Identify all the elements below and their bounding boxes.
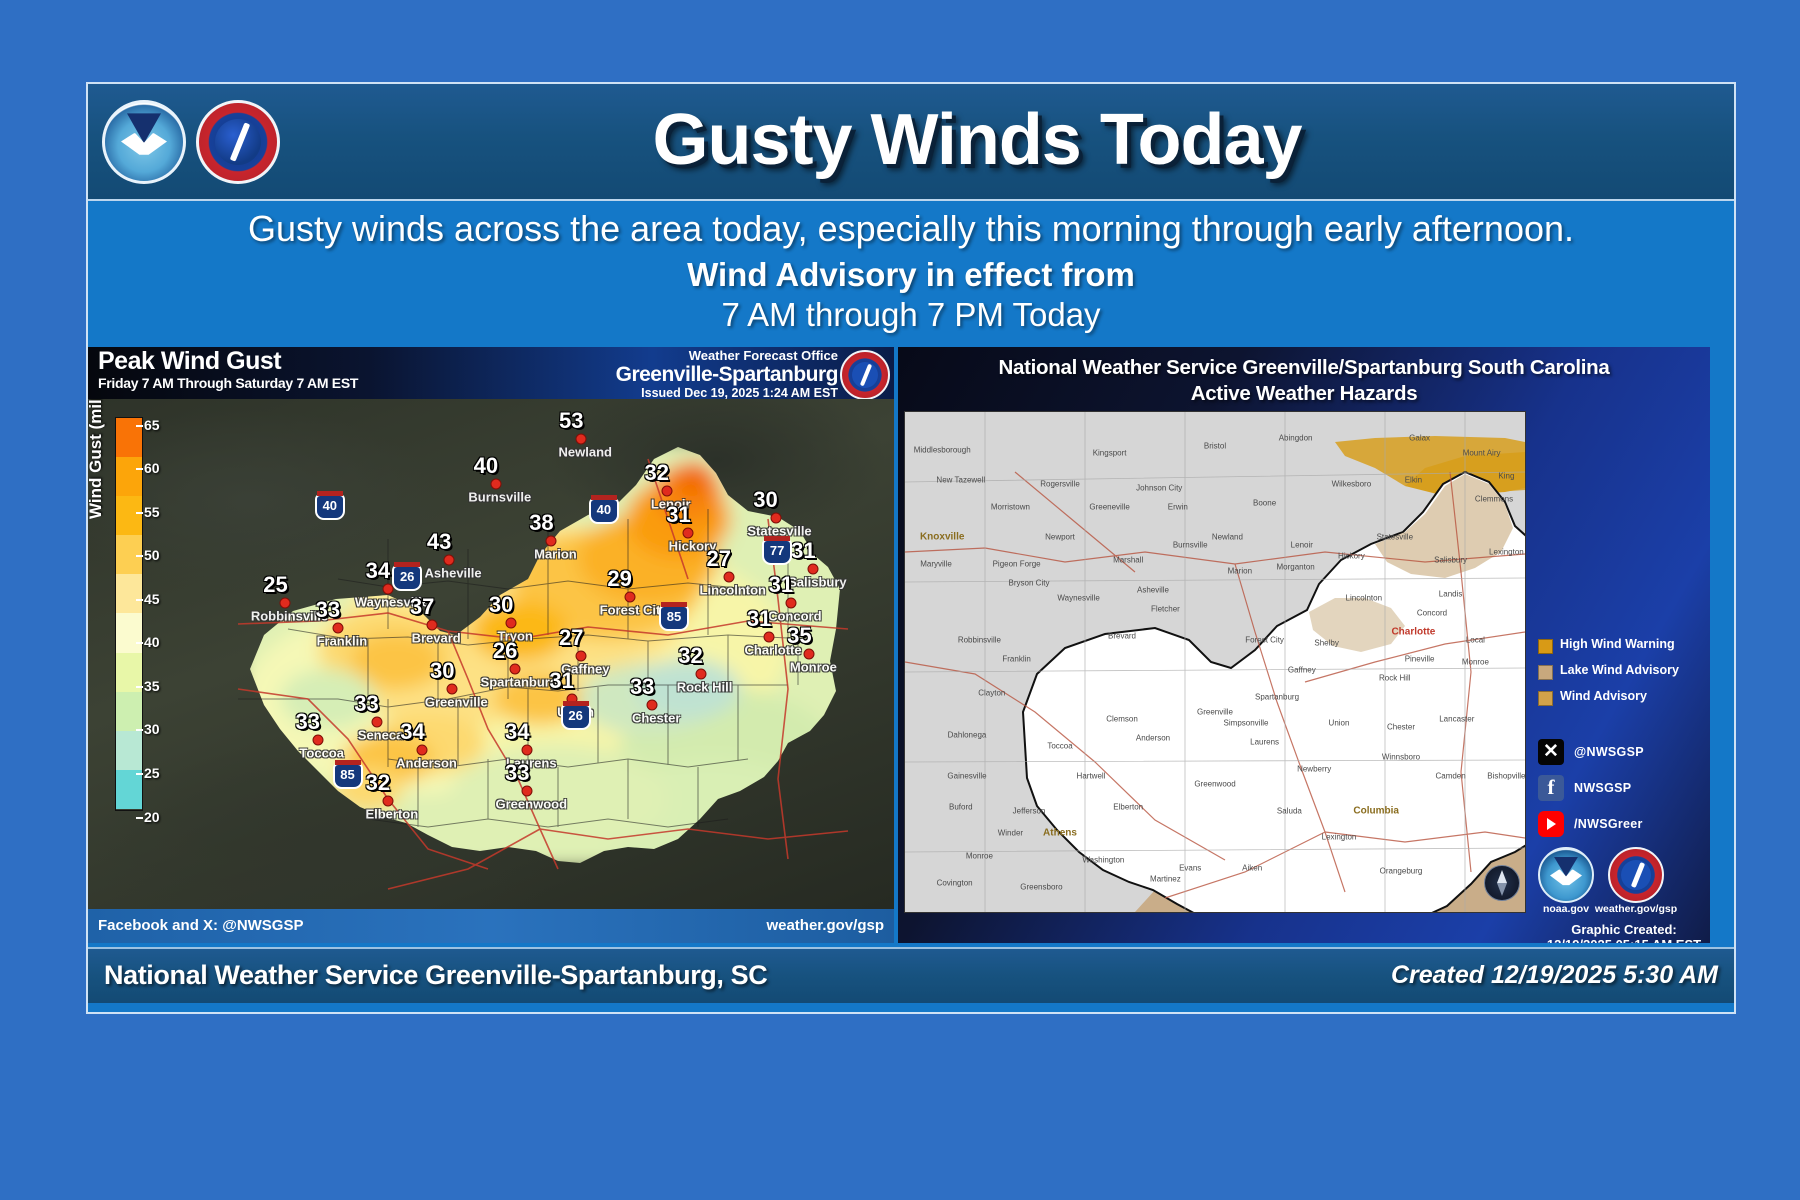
seal-caption: noaa.gov [1543, 903, 1589, 915]
city-label: Greenville [425, 695, 488, 710]
city-label: Burnsville [468, 490, 531, 505]
city-label: Seneca [358, 728, 404, 743]
interstate-shield-icon: 85 [659, 605, 689, 631]
active-hazards-panel: National Weather Service Greenville/Spar… [898, 347, 1710, 943]
station-dot [280, 597, 291, 608]
gust-value: 53 [559, 408, 583, 434]
colorbar-segment [116, 496, 142, 535]
colorbar-tick-label: 65 [144, 417, 160, 433]
page-title: Gusty Winds Today [280, 99, 1734, 181]
legend-swatch [1538, 665, 1553, 680]
station-dot [683, 528, 694, 539]
station-dot [808, 564, 819, 575]
station-dot [804, 648, 815, 659]
colorbar-segment [116, 613, 142, 652]
social-footer-text: Facebook and X: @NWSGSP [98, 917, 304, 934]
left-panel-header: Peak Wind Gust Friday 7 AM Through Satur… [88, 347, 894, 399]
colorbar-label: Wind Gust (mile_per_hour) [88, 399, 106, 519]
compass-rose-icon [1484, 865, 1520, 901]
station-dot [723, 572, 734, 583]
city-label: Elberton [365, 807, 418, 822]
colorbar-segment [116, 692, 142, 731]
left-panel-title: Peak Wind Gust [98, 348, 358, 374]
colorbar-segment [116, 770, 142, 809]
noaa-logo-icon [102, 100, 186, 184]
city-label: Concord [768, 608, 821, 623]
station-dot [506, 617, 517, 628]
left-panel-subtitle: Friday 7 AM Through Saturday 7 AM EST [98, 375, 358, 391]
gust-value: 31 [791, 538, 815, 564]
created-footer-stamp: Created 12/19/2025 5:30 AM [1391, 961, 1718, 990]
city-label: Rock Hill [677, 679, 733, 694]
office-label: Weather Forecast Office [616, 349, 838, 363]
colorbar-tick-label: 20 [144, 809, 160, 825]
gust-value: 31 [666, 502, 690, 528]
city-label: Toccoa [299, 746, 344, 761]
x-icon[interactable]: ✕ [1538, 739, 1564, 765]
station-dot [522, 786, 533, 797]
colorbar-tick-label: 35 [144, 678, 160, 694]
peak-wind-gust-panel: Peak Wind Gust Friday 7 AM Through Satur… [88, 347, 898, 943]
facebook-icon[interactable]: f [1538, 775, 1564, 801]
agency-seals: noaa.govweather.gov/gsp [1538, 847, 1708, 903]
station-dot [510, 663, 521, 674]
hazards-map[interactable]: MiddlesboroughAbingdonGalaxMount AiryKin… [904, 411, 1526, 913]
gust-value: 33 [630, 674, 654, 700]
gust-value: 30 [489, 592, 513, 618]
hazards-title-line-2: Active Weather Hazards [898, 381, 1710, 407]
gust-value: 30 [753, 487, 777, 513]
office-name: Greenville-Spartanburg [616, 363, 838, 386]
headline-line-2: Wind Advisory in effect from [98, 255, 1724, 295]
gust-value: 43 [427, 529, 451, 555]
city-label: Greenwood [496, 797, 568, 812]
panels-row: Peak Wind Gust Friday 7 AM Through Satur… [88, 347, 1734, 947]
gust-value: 32 [366, 770, 390, 796]
gust-value: 33 [295, 709, 319, 735]
station-dot [312, 735, 323, 746]
station-dot [624, 592, 635, 603]
nws-seal-icon [840, 350, 890, 400]
gust-value: 40 [474, 453, 498, 479]
social-handle: NWSGSP [1574, 781, 1631, 795]
social-row[interactable]: ✕@NWSGSP [1538, 737, 1708, 767]
left-panel-footer: Facebook and X: @NWSGSP weather.gov/gsp [88, 909, 894, 943]
station-dot [332, 623, 343, 634]
seal-caption: weather.gov/gsp [1595, 903, 1677, 915]
station-dot [522, 745, 533, 756]
station-dot [546, 536, 557, 547]
weather-graphic: Gusty Winds Today Gusty winds across the… [86, 82, 1736, 1014]
bottom-banner: National Weather Service Greenville-Spar… [88, 947, 1734, 1003]
social-row[interactable]: /NWSGreer [1538, 809, 1708, 839]
city-label: Marion [534, 547, 577, 562]
colorbar-segment [116, 731, 142, 770]
station-dot [427, 620, 438, 631]
created-label: Graphic Created: [1534, 922, 1710, 938]
gust-value: 26 [493, 638, 517, 664]
station-dot [785, 597, 796, 608]
gust-value: 34 [400, 719, 424, 745]
colorbar-segment [116, 574, 142, 613]
gust-value: 32 [678, 643, 702, 669]
station-dot [647, 699, 658, 710]
office-footer-title: National Weather Service Greenville-Spar… [104, 960, 767, 991]
nws-seal: weather.gov/gsp [1608, 847, 1664, 903]
hazards-title-line-1: National Weather Service Greenville/Spar… [898, 355, 1710, 381]
legend-swatch [1538, 691, 1553, 706]
gust-value: 35 [787, 623, 811, 649]
social-handle: /NWSGreer [1574, 817, 1643, 831]
wind-gust-map[interactable]: 20253035404550556065 Wind Gust (mile_per… [88, 399, 894, 909]
noaa-seal: noaa.gov [1538, 847, 1594, 903]
interstate-shield-icon: 26 [392, 565, 422, 591]
gust-value: 37 [410, 594, 434, 620]
gust-value: 27 [707, 546, 731, 572]
gust-value: 25 [263, 572, 287, 598]
station-dot [695, 668, 706, 679]
gust-value: 30 [430, 658, 454, 684]
youtube-icon[interactable] [1538, 811, 1564, 837]
colorbar-ticks: 20253035404550556065 [144, 409, 196, 809]
station-dot [490, 479, 501, 490]
legend-row: High Wind Warning [1538, 637, 1698, 654]
station-dot [661, 486, 672, 497]
colorbar-segment [116, 457, 142, 496]
city-label: Lincolnton [700, 583, 766, 598]
legend-label: High Wind Warning [1560, 637, 1675, 651]
colorbar-tick-label: 55 [144, 504, 160, 520]
graphic-created-stamp: Graphic Created: 12/19/2025 05:15 AM EST [1534, 922, 1710, 943]
wind-gust-colorbar [115, 417, 143, 811]
colorbar-tick-label: 30 [144, 721, 160, 737]
legend-row: Wind Advisory [1538, 689, 1698, 706]
gust-value: 34 [505, 719, 529, 745]
gust-value: 33 [505, 760, 529, 786]
gust-value: 38 [529, 510, 553, 536]
city-label: Brevard [412, 631, 461, 646]
social-row[interactable]: fNWSGSP [1538, 773, 1708, 803]
colorbar-tick-label: 50 [144, 547, 160, 563]
interstate-shield-icon: 40 [315, 494, 345, 520]
headline-line-3: 7 AM through 7 PM Today [98, 295, 1724, 335]
gust-value: 29 [607, 566, 631, 592]
social-links: ✕@NWSGSPfNWSGSP/NWSGreer [1538, 737, 1708, 845]
gust-value: 31 [549, 668, 573, 694]
colorbar-tick-label: 40 [144, 634, 160, 650]
colorbar-tick-label: 60 [144, 460, 160, 476]
colorbar-tick-label: 25 [144, 765, 160, 781]
city-label: Salisbury [788, 575, 847, 590]
title-bar: Gusty Winds Today [88, 84, 1734, 201]
legend-label: Wind Advisory [1560, 689, 1647, 703]
gust-value: 33 [316, 597, 340, 623]
legend-swatch [1538, 639, 1553, 654]
city-label: Monroe [790, 659, 837, 674]
created-value: 12/19/2025 05:15 AM EST [1534, 937, 1710, 942]
station-dot [764, 632, 775, 643]
gust-value: 32 [644, 460, 668, 486]
hazards-title: National Weather Service Greenville/Spar… [898, 355, 1710, 407]
station-dot [417, 745, 428, 756]
gust-value: 34 [366, 558, 390, 584]
gust-value: 31 [747, 606, 771, 632]
city-label: Spartanburg [481, 674, 558, 689]
legend-row: Lake Wind Advisory [1538, 663, 1698, 680]
station-dot [576, 434, 587, 445]
interstate-shield-icon: 26 [561, 704, 591, 730]
interstate-shield-icon: 85 [333, 763, 363, 789]
station-dot [447, 684, 458, 695]
city-label: Newland [559, 445, 612, 460]
gust-value: 31 [769, 572, 793, 598]
gust-value: 27 [559, 625, 583, 651]
colorbar-segment [116, 418, 142, 457]
station-dot [770, 513, 781, 524]
website-footer-text: weather.gov/gsp [766, 917, 884, 934]
city-label: Franklin [317, 634, 368, 649]
city-label: Anderson [396, 756, 457, 771]
station-dot [382, 796, 393, 807]
legend-label: Lake Wind Advisory [1560, 663, 1679, 677]
interstate-shield-icon: 77 [762, 539, 792, 565]
city-label: Forest City [600, 603, 668, 618]
social-handle: @NWSGSP [1574, 745, 1644, 759]
station-dot [444, 554, 455, 565]
headline-line-1: Gusty winds across the area today, espec… [98, 209, 1724, 249]
headline-block: Gusty winds across the area today, espec… [88, 201, 1734, 347]
gust-value: 33 [354, 691, 378, 717]
city-label: Asheville [425, 565, 482, 580]
colorbar-tick-label: 45 [144, 591, 160, 607]
nws-logo-icon [196, 100, 280, 184]
station-dot [576, 651, 587, 662]
city-label: Chester [632, 710, 680, 725]
hazards-legend: High Wind WarningLake Wind AdvisoryWind … [1538, 637, 1698, 715]
station-dot [371, 717, 382, 728]
interstate-shield-icon: 40 [589, 498, 619, 524]
